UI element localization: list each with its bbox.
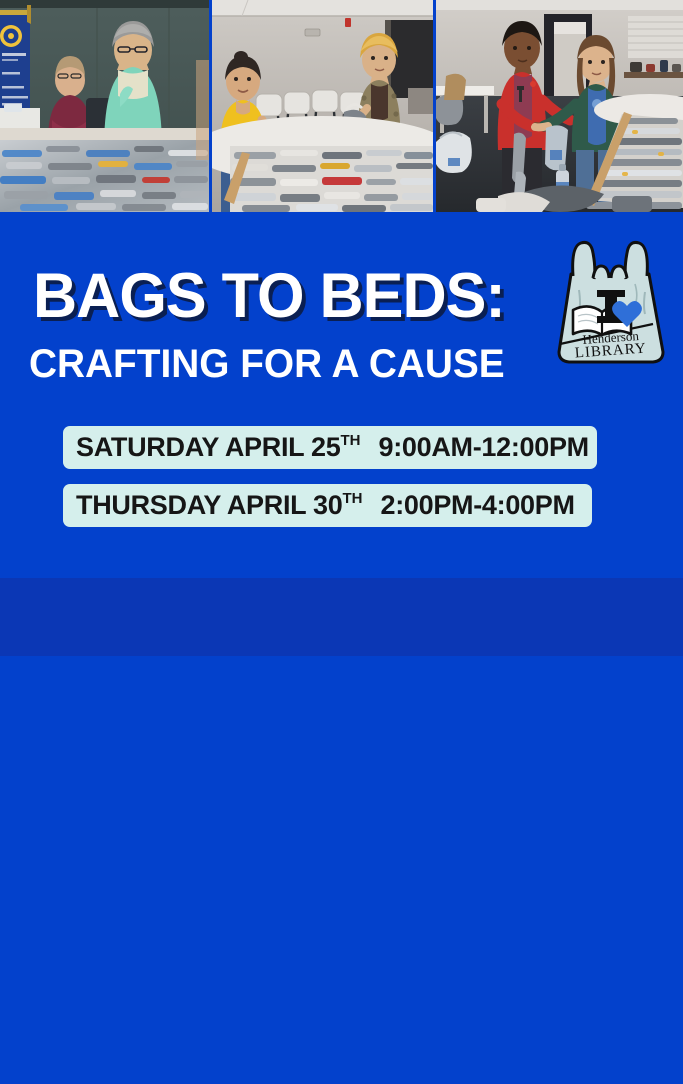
session-1-ordinal: TH bbox=[340, 432, 360, 449]
page-subtitle: CRAFTING FOR A CAUSE bbox=[29, 344, 505, 384]
session-2-time: 2:00PM-4:00PM bbox=[380, 490, 574, 521]
decorative-pattern-band bbox=[0, 578, 683, 656]
session-2-ordinal: TH bbox=[342, 490, 362, 507]
flyer-poster: BAGS TO BEDS: CRAFTING FOR A CAUSE bbox=[0, 0, 683, 1084]
session-pill-2[interactable]: THURSDAY APRIL 30TH 2:00PM-4:00PM bbox=[63, 484, 592, 527]
photo-rotary-banner-volunteers bbox=[0, 0, 209, 212]
page-title: BAGS TO BEDS: bbox=[33, 265, 505, 328]
session-1-text: SATURDAY APRIL 25TH 9:00AM-12:00PM bbox=[76, 432, 589, 463]
henderson-library-bag-logo: Henderson LIBRARY bbox=[549, 234, 672, 368]
session-pill-1[interactable]: SATURDAY APRIL 25TH 9:00AM-12:00PM bbox=[63, 426, 597, 469]
session-1-day: SATURDAY APRIL 25 bbox=[76, 432, 340, 463]
session-1-time: 9:00AM-12:00PM bbox=[378, 432, 588, 463]
photo-strip bbox=[0, 0, 683, 212]
bottom-blank-area bbox=[0, 656, 683, 1084]
session-2-day: THURSDAY APRIL 30 bbox=[76, 490, 342, 521]
photo-two-women-mat bbox=[212, 0, 433, 212]
photo-teen-and-woman-weaving bbox=[436, 0, 683, 212]
session-2-text: THURSDAY APRIL 30TH 2:00PM-4:00PM bbox=[76, 490, 575, 521]
